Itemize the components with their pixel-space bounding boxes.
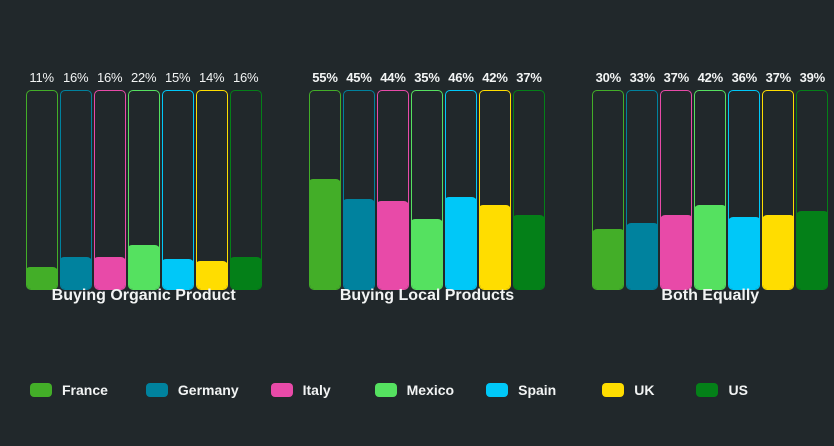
category-label: Both Equally: [587, 282, 834, 310]
bar-value-label: 35%: [414, 66, 439, 90]
bar-value-label: 33%: [630, 66, 655, 90]
bar-column[interactable]: 14%: [195, 66, 229, 290]
bar-track: [592, 90, 624, 290]
bar-value-label: 42%: [698, 66, 723, 90]
bar-track: [230, 90, 262, 290]
bar-value-label: 36%: [732, 66, 757, 90]
bar-column[interactable]: 30%: [591, 66, 625, 290]
bar-fill: [592, 229, 624, 290]
legend-item-germany[interactable]: Germany: [146, 382, 239, 398]
legend-swatch-icon: [696, 383, 718, 397]
bar-column[interactable]: 44%: [376, 66, 410, 290]
chart-plot-area: 11% 16% 16%: [0, 0, 834, 310]
bar-value-label: 37%: [664, 66, 689, 90]
bar-value-label: 42%: [482, 66, 507, 90]
bar-group-bars: 30% 33% 37%: [591, 0, 829, 290]
bar-column[interactable]: 37%: [659, 66, 693, 290]
bar-track: [60, 90, 92, 290]
bar-track: [343, 90, 375, 290]
bar-fill: [694, 205, 726, 290]
bar-value-label: 30%: [596, 66, 621, 90]
bar-column[interactable]: 37%: [512, 66, 546, 290]
bar-track: [626, 90, 658, 290]
bar-fill: [411, 219, 443, 290]
bar-group-buying-local-products: 55% 45% 44%: [303, 0, 550, 290]
legend-item-france[interactable]: France: [30, 382, 108, 398]
bar-fill: [309, 179, 341, 290]
bar-fill: [445, 197, 477, 290]
bar-track: [26, 90, 58, 290]
bar-track: [94, 90, 126, 290]
bar-fill: [660, 215, 692, 290]
bar-value-label: 55%: [312, 66, 337, 90]
legend-item-uk[interactable]: UK: [602, 382, 654, 398]
legend-label: Spain: [518, 382, 556, 398]
bar-value-label: 46%: [448, 66, 473, 90]
bar-value-label: 39%: [800, 66, 825, 90]
bar-column[interactable]: 39%: [795, 66, 829, 290]
bar-value-label: 16%: [233, 66, 258, 90]
bar-value-label: 11%: [29, 66, 53, 90]
legend-item-spain[interactable]: Spain: [486, 382, 556, 398]
bar-column[interactable]: 42%: [693, 66, 727, 290]
legend-label: US: [728, 382, 747, 398]
bar-track: [513, 90, 545, 290]
bar-value-label: 45%: [346, 66, 371, 90]
bar-fill: [513, 215, 545, 290]
bar-column[interactable]: 15%: [161, 66, 195, 290]
bar-group-bars: 55% 45% 44%: [308, 0, 546, 290]
bar-track: [796, 90, 828, 290]
bar-column[interactable]: 16%: [59, 66, 93, 290]
bar-value-label: 22%: [131, 66, 156, 90]
bar-value-label: 16%: [97, 66, 122, 90]
bar-column[interactable]: 42%: [478, 66, 512, 290]
bar-value-label: 15%: [165, 66, 190, 90]
category-labels: Buying Organic Product Buying Local Prod…: [0, 282, 834, 310]
bar-track: [411, 90, 443, 290]
bar-fill: [626, 223, 658, 290]
legend-label: UK: [634, 382, 654, 398]
bar-group-bars: 11% 16% 16%: [25, 0, 263, 290]
category-label: Buying Local Products: [303, 282, 550, 310]
legend-item-italy[interactable]: Italy: [271, 382, 331, 398]
bar-column[interactable]: 36%: [727, 66, 761, 290]
bar-column[interactable]: 16%: [93, 66, 127, 290]
bar-column[interactable]: 55%: [308, 66, 342, 290]
bar-column[interactable]: 16%: [229, 66, 263, 290]
bar-track: [196, 90, 228, 290]
bar-column[interactable]: 37%: [761, 66, 795, 290]
legend-swatch-icon: [375, 383, 397, 397]
legend-item-mexico[interactable]: Mexico: [375, 382, 454, 398]
bar-column[interactable]: 33%: [625, 66, 659, 290]
bar-track: [309, 90, 341, 290]
bar-track: [660, 90, 692, 290]
bar-value-label: 16%: [63, 66, 88, 90]
bar-track: [728, 90, 760, 290]
legend-item-us[interactable]: US: [696, 382, 747, 398]
chart-legend: France Germany Italy Mexico Spain UK US: [30, 378, 810, 402]
legend-label: France: [62, 382, 108, 398]
bar-track: [479, 90, 511, 290]
bar-track: [128, 90, 160, 290]
bar-column[interactable]: 35%: [410, 66, 444, 290]
bar-fill: [796, 211, 828, 290]
bar-fill: [377, 201, 409, 290]
bar-column[interactable]: 46%: [444, 66, 478, 290]
bar-value-label: 37%: [766, 66, 791, 90]
bar-track: [762, 90, 794, 290]
bar-value-label: 44%: [380, 66, 405, 90]
legend-label: Mexico: [407, 382, 454, 398]
bar-track: [377, 90, 409, 290]
bar-fill: [762, 215, 794, 290]
bar-value-label: 37%: [516, 66, 541, 90]
category-label: Buying Organic Product: [20, 282, 267, 310]
bar-group-both-equally: 30% 33% 37%: [587, 0, 834, 290]
bar-column[interactable]: 11%: [25, 66, 59, 290]
bar-column[interactable]: 45%: [342, 66, 376, 290]
bar-fill: [343, 199, 375, 290]
legend-label: Germany: [178, 382, 239, 398]
legend-swatch-icon: [30, 383, 52, 397]
bar-track: [162, 90, 194, 290]
bar-value-label: 14%: [199, 66, 224, 90]
legend-swatch-icon: [602, 383, 624, 397]
bar-track: [694, 90, 726, 290]
bar-group-buying-organic-product: 11% 16% 16%: [20, 0, 267, 290]
bar-column[interactable]: 22%: [127, 66, 161, 290]
bar-fill: [728, 217, 760, 290]
bar-track: [445, 90, 477, 290]
legend-swatch-icon: [146, 383, 168, 397]
legend-label: Italy: [303, 382, 331, 398]
legend-swatch-icon: [271, 383, 293, 397]
grouped-bar-chart: 11% 16% 16%: [0, 0, 834, 446]
legend-swatch-icon: [486, 383, 508, 397]
bar-fill: [479, 205, 511, 290]
